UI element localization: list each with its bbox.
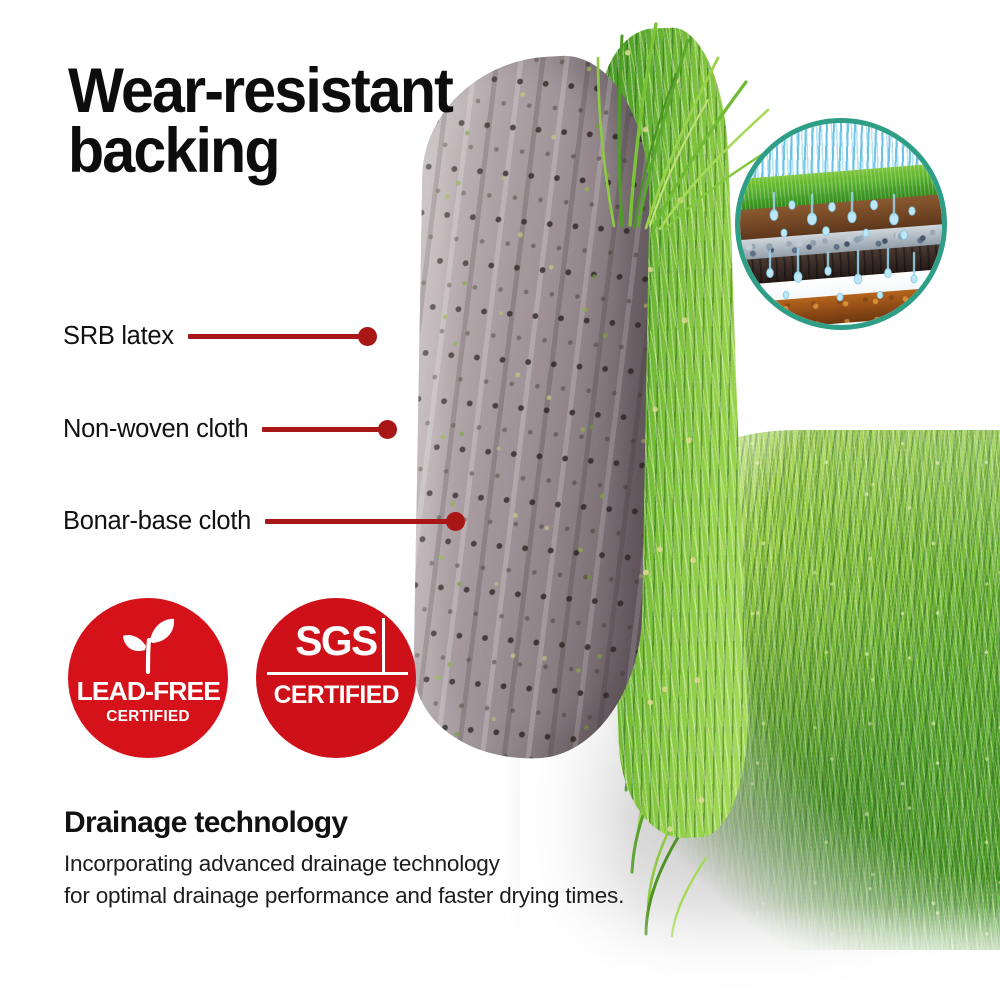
section-heading: Drainage technology [64, 806, 624, 839]
callout-srb-latex: SRB latex [63, 322, 377, 351]
drainage-cross-section-diagram [735, 118, 947, 330]
callout-dot [446, 512, 465, 531]
callout-leader-line [265, 519, 448, 524]
section-body: Incorporating advanced drainage technolo… [64, 848, 624, 912]
badge-lead-free-certified: LEAD-FREE CERTIFIED [68, 598, 228, 758]
badge-lead-free-sub: CERTIFIED [106, 709, 190, 725]
sgs-logo-block: SGS [256, 620, 416, 674]
badge-sgs-certified: SGS CERTIFIED [256, 598, 416, 758]
drainage-diagram-inner [740, 123, 942, 325]
drainage-technology-section: Drainage technology Incorporating advanc… [64, 806, 624, 912]
badge-sgs-sub: CERTIFIED [273, 683, 398, 708]
callout-leader-line [188, 334, 360, 339]
callout-label: Bonar-base cloth [63, 507, 251, 536]
sgs-crosshair-horizontal [267, 672, 408, 675]
badge-sgs-main: SGS [295, 620, 376, 662]
callout-dot [378, 420, 397, 439]
callout-label: SRB latex [63, 322, 174, 351]
callout-label: Non-woven cloth [63, 415, 248, 444]
sgs-crosshair-vertical [382, 618, 385, 674]
callout-non-woven-cloth: Non-woven cloth [63, 415, 397, 444]
sprout-leaf-icon [118, 615, 178, 677]
page-title: Wear-resistant backing [68, 62, 557, 182]
callout-leader-line [262, 427, 380, 432]
callout-bonar-base-cloth: Bonar-base cloth [63, 507, 465, 536]
water-droplets [740, 123, 942, 325]
callout-dot [358, 327, 377, 346]
badge-lead-free-main: LEAD-FREE [76, 678, 220, 704]
product-infographic: Wear-resistant backing SRB latex Non-wov… [0, 0, 1000, 1000]
